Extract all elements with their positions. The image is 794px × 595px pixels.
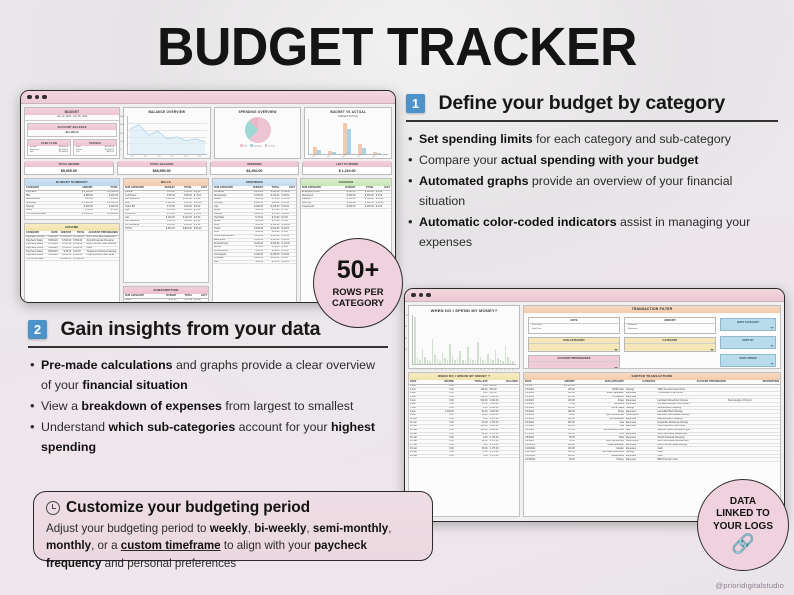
transaction-filter-panel: TRANSACTION FILTER DATE Start Date End D… xyxy=(523,305,781,369)
budget-summary-table[interactable]: BUDGET SUMMARY CATEGORYAMOUNTTOTALPayche… xyxy=(24,178,120,220)
x-axis-labels: 1234567891011121314151617181920212223242… xyxy=(413,369,516,370)
legend-item: Spending xyxy=(250,144,262,148)
data-table: SUB-CATEGORYBUDGETTOTALLEFTNetflix$ 17.0… xyxy=(124,294,208,303)
customize-period-heading: Customize your budgeting period xyxy=(46,499,420,517)
table-row[interactable]: TOTAL$ 840.00$ 804.00$ 36.00 xyxy=(124,227,208,231)
bar-actual xyxy=(332,152,336,154)
page-title: BUDGET TRACKER xyxy=(16,16,778,78)
bar xyxy=(497,358,499,364)
spend-timing-bar-chart: 1 50090060030001234567891011121314151617… xyxy=(412,315,516,365)
table-row[interactable]: Investments$ 250.00$ 250.00$ 0.00 xyxy=(301,205,391,209)
legend-item: Savings xyxy=(265,144,275,148)
data-linked-label: DATALINKED TOYOUR LOGS xyxy=(713,496,773,533)
x-tick-label: Bills xyxy=(327,155,331,159)
y-tick-label: 0 xyxy=(120,149,121,151)
budget-summary-title: BUDGET SUMMARY xyxy=(25,179,119,186)
table-cell: $ 0.00 xyxy=(375,205,391,209)
sort-order-button[interactable]: SORT ORDER xyxy=(720,354,776,367)
table-cell: 0.00 xyxy=(455,454,489,458)
table-cell: TOTAL xyxy=(124,227,157,231)
filter-subcategory-field[interactable]: SUB-CATEGORY xyxy=(528,337,620,352)
x-tick-label: 7/24 xyxy=(184,156,188,158)
left-tables-col: BUDGET SUMMARY CATEGORYAMOUNTTOTALPayche… xyxy=(24,178,120,303)
bar xyxy=(422,349,424,364)
table-cell: $ 4,820.00 xyxy=(72,257,85,261)
bar xyxy=(475,361,477,364)
transactions-top-row: WHEN DO I SPEND MY MONEY? 1 500900600300… xyxy=(408,305,781,369)
metrics-row: TOTAL INCOME$5,000.00TOTAL BALANCE$68,55… xyxy=(24,162,392,175)
bar xyxy=(480,357,482,364)
y-tick-label: 600 xyxy=(404,338,407,340)
table-row[interactable]: 20-Jan0.000.001,175.00 xyxy=(409,454,519,458)
bar xyxy=(510,360,512,364)
maximize-dot-icon[interactable] xyxy=(426,293,431,298)
bullet-point: Understand which sub-categories account … xyxy=(28,417,388,457)
close-dot-icon[interactable] xyxy=(27,95,32,100)
section-2-divider xyxy=(28,346,388,348)
metric-card-1: TOTAL BALANCE$68,550.00 xyxy=(117,162,207,175)
section-1-divider xyxy=(406,120,778,122)
table-cell: Investments xyxy=(301,205,336,209)
filter-category-field[interactable]: CATEGORY xyxy=(624,337,716,352)
bar xyxy=(427,360,429,364)
table-cell xyxy=(46,257,59,261)
metric-value: $5,000.00 xyxy=(61,167,77,176)
pie-legend: BillsSpendingSavings xyxy=(215,144,301,148)
bar xyxy=(447,360,449,364)
x-tick-label: 7/21 xyxy=(170,156,174,158)
table-cell: Misc xyxy=(213,260,246,264)
bar xyxy=(502,361,504,364)
bar xyxy=(449,344,451,364)
budget-top-row: BUDGET July 12, 2024 - July 26, 2024 ACC… xyxy=(24,107,392,159)
spending-overview-pie-chart xyxy=(245,117,271,143)
spend-timing-title: WHEN DO I SPEND MY MONEY? xyxy=(409,306,519,314)
income-title: INCOME xyxy=(25,224,119,231)
bar xyxy=(485,361,487,364)
bar xyxy=(467,347,469,364)
sort-order-label: SORT ORDER xyxy=(739,357,756,360)
bills-table[interactable]: BILLS SUB-CATEGORYBUDGETTOTALLEFTInterne… xyxy=(123,178,209,283)
y-tick-label: 0 xyxy=(404,360,405,362)
table-cell: $ 0.00 xyxy=(193,302,208,303)
bar xyxy=(512,361,514,364)
window-titlebar[interactable] xyxy=(21,91,395,104)
bar xyxy=(457,359,459,364)
table-row[interactable]: Misc$ 80.00$ 62.00$ 18.00 xyxy=(213,260,296,264)
transaction-filter-title: TRANSACTION FILTER xyxy=(524,306,780,313)
table-cell: $ 804.00 xyxy=(176,227,193,231)
table-cell: Expenses xyxy=(625,458,657,462)
y-tick-label: 4000 xyxy=(120,116,124,118)
sort-buttons-col: SORT CATEGORY SORT BY SORT ORDER xyxy=(720,317,776,369)
cash-flow-rows: Income$5,000.00Expenses$3,120.00Net$1,88… xyxy=(28,146,70,154)
table-cell: $ 80.00 xyxy=(246,260,264,264)
balance-overview-chart-panel: BALANCE OVERVIEW 7/127/157/187/217/247/2… xyxy=(123,107,211,159)
spending-title: SPENDING xyxy=(213,179,296,186)
bar xyxy=(465,361,467,364)
y-tick-label: 3000 xyxy=(120,124,124,126)
bar xyxy=(439,361,441,364)
filter-account-provenance-field[interactable]: ACCOUNT PROVENANCE xyxy=(528,355,620,369)
table-cell xyxy=(86,257,119,261)
bar-actual xyxy=(377,153,381,154)
spending-table[interactable]: SPENDING SUB-CATEGORYBUDGETTOTALLEFTGroc… xyxy=(212,178,297,303)
budget-vs-actual-bar-chart: IncomeBillsSpendingSavingsOther xyxy=(308,119,388,155)
bar xyxy=(437,359,439,364)
subscription-title: SUBSCRIPTION xyxy=(124,287,208,294)
filter-category-label: CATEGORY xyxy=(625,338,715,344)
table-cell: 1,175.00 xyxy=(489,454,519,458)
table-cell: 0.00 xyxy=(429,454,455,458)
metric-value: $ 1,110.00 xyxy=(339,167,356,176)
filter-col-1: DATE Start Date End Date SUB-CATEGORY AC… xyxy=(528,317,620,369)
table-row[interactable]: TOTAL INCOME$ 4,820.00$ 4,820.00 xyxy=(25,257,119,261)
table-cell: $ 3,852.00 xyxy=(68,212,93,216)
table-cell: $ 250.00 xyxy=(357,205,375,209)
bar xyxy=(417,358,419,364)
budget-vs-actual-title: BUDGET VS ACTUAL xyxy=(305,108,391,115)
section-1-number: 1 xyxy=(406,94,425,113)
bar xyxy=(452,356,454,364)
balance-line xyxy=(128,116,207,154)
budget-header-panel: BUDGET July 12, 2024 - July 26, 2024 ACC… xyxy=(24,107,120,159)
bar xyxy=(432,339,434,364)
account-dropdown-arrow-icon[interactable] xyxy=(614,367,618,369)
bills-col: BILLS SUB-CATEGORYBUDGETTOTALLEFTInterne… xyxy=(123,178,209,303)
budget-header-title: BUDGET xyxy=(25,108,119,115)
clock-icon xyxy=(46,501,60,515)
metric-value: $68,550.00 xyxy=(153,167,171,176)
table-row[interactable]: Spotify$ 11.00$ 11.00$ 0.00 xyxy=(124,302,208,303)
bar xyxy=(434,355,436,364)
x-tick-label: 7/12 xyxy=(130,156,134,158)
bar xyxy=(462,360,464,364)
spending-overview-title: SPENDING OVERVIEW xyxy=(215,108,301,115)
budget-vs-actual-chart-panel: BUDGET VS ACTUAL BUDGET ACTUAL IncomeBil… xyxy=(304,107,392,159)
window2-titlebar[interactable] xyxy=(405,289,784,302)
bar xyxy=(444,358,446,364)
mini-row: Left$800.00 xyxy=(74,151,116,154)
customize-period-title: Customize your budgeting period xyxy=(66,499,310,517)
filter-fields-area: DATE Start Date End Date SUB-CATEGORY AC… xyxy=(524,313,780,369)
table-cell: $ 36.00 xyxy=(193,227,208,231)
filter-amount-field[interactable]: AMOUNT Minimum Maximum xyxy=(624,317,716,334)
table-cell xyxy=(727,458,780,462)
metric-card-3: LEFT TO SPEND$ 1,110.00 xyxy=(302,162,392,175)
table-row[interactable]: 1/13/202490.00HockeyExpensesBMO Premium … xyxy=(524,458,780,462)
table-cell: $ 4,820.00 xyxy=(59,257,72,261)
table-cell: 90.00 xyxy=(549,458,576,462)
section-1-heading: 1 Define your budget by category xyxy=(406,92,778,115)
bar xyxy=(442,353,444,364)
bar xyxy=(492,360,494,364)
savings-card: SAVINGS Goal$2,000.00Saved$1,200.00Left$… xyxy=(73,139,117,156)
legend-swatch xyxy=(265,144,268,147)
bullet-point: Automatic color-coded indicators assist … xyxy=(406,212,778,252)
y-tick-label: 2000 xyxy=(120,133,124,135)
x-tick-label: Other xyxy=(372,154,377,158)
category-dropdown-arrow-icon[interactable] xyxy=(710,349,714,351)
subcategory-dropdown-arrow-icon[interactable] xyxy=(614,349,618,351)
spending-overview-chart-panel: SPENDING OVERVIEW BillsSpendingSavings xyxy=(214,107,302,159)
rows-badge-label: ROWS PERCATEGORY xyxy=(332,286,384,309)
bar xyxy=(500,360,502,364)
spend-timing-table-title: WHEN DO I SPEND MY MONEY ? xyxy=(409,373,519,380)
bullet-point: Pre-made calculations and graphs provide… xyxy=(28,355,388,395)
table-cell: $ 62.00 xyxy=(264,260,280,264)
table-cell: 1/13/2024 xyxy=(524,458,549,462)
table-cell: $ 11.00 xyxy=(178,302,194,303)
subscription-table[interactable]: SUBSCRIPTION SUB-CATEGORYBUDGETTOTALLEFT… xyxy=(123,286,209,303)
sort-category-button[interactable]: SORT CATEGORY xyxy=(720,318,776,331)
table-row[interactable]: TOTAL EXPENSES$ 3,852.00$ 3,991.00 xyxy=(25,212,119,216)
bullet-point: Set spending limits for each category an… xyxy=(406,129,778,149)
section-2-title: Gain insights from your data xyxy=(60,318,320,340)
filter-date-end[interactable]: End Date xyxy=(529,327,619,330)
bar-actual xyxy=(347,129,351,154)
table-cell: $ 3,991.00 xyxy=(94,212,119,216)
x-tick-label: 7/26 xyxy=(197,156,201,158)
bills-title: BILLS xyxy=(124,179,208,186)
bar xyxy=(472,360,474,364)
income-table[interactable]: INCOME CATEGORYDATEAMOUNTTOTALACCOUNT PR… xyxy=(24,223,120,303)
bullet-point: Compare your actual spending with your b… xyxy=(406,150,778,170)
section-gain-insights: 2 Gain insights from your data Pre-made … xyxy=(28,318,388,458)
watermark: @prioridigitalstudio xyxy=(715,581,784,590)
table-cell: BMO Premium Visa xyxy=(657,458,728,462)
data-table: SUB-CATEGORYBUDGETTOTALLEFTInternet$ 65.… xyxy=(124,186,208,231)
bar xyxy=(414,317,416,364)
data-table: DATEAMOUNTSUB-CATEGORYCATEGORYACCOUNT PR… xyxy=(524,380,780,462)
data-table: CATEGORYDATEAMOUNTTOTALACCOUNT PROVENANC… xyxy=(25,231,119,262)
account-balance-card: ACCOUNT BALANCE $12,450.00 xyxy=(27,123,117,137)
section-2-number: 2 xyxy=(28,320,47,339)
cash-flow-card: CASH FLOW Income$5,000.00Expenses$3,120.… xyxy=(27,139,71,156)
maximize-dot-icon[interactable] xyxy=(42,95,47,100)
sort-by-label: SORT BY xyxy=(742,339,754,342)
bar xyxy=(477,342,479,364)
table-cell: Hockey xyxy=(576,458,625,462)
data-table: SUB-CATEGORYBUDGETTOTALLEFTGroceries$ 45… xyxy=(213,186,296,265)
section-define-budget: 1 Define your budget by category Set spe… xyxy=(406,92,778,253)
mini-cards-row: CASH FLOW Income$5,000.00Expenses$3,120.… xyxy=(27,139,117,156)
data-linked-badge: DATALINKED TOYOUR LOGS 🔗 xyxy=(697,479,789,571)
bar xyxy=(459,351,461,364)
table-cell: Spotify xyxy=(124,302,158,303)
bar xyxy=(424,357,426,364)
filter-date-field[interactable]: DATE Start Date End Date xyxy=(528,317,620,334)
data-table: SUB-CATEGORYBUDGETTOTALLEFTEmergency Fun… xyxy=(301,186,391,209)
filter-amount-max[interactable]: Maximum xyxy=(625,327,715,330)
sort-category-label: SORT CATEGORY xyxy=(737,321,759,324)
bar xyxy=(419,360,421,364)
metric-card-0: TOTAL INCOME$5,000.00 xyxy=(24,162,114,175)
table-cell: $ 11.00 xyxy=(158,302,177,303)
filter-subcategory-label: SUB-CATEGORY xyxy=(529,338,619,344)
table-cell: TOTAL EXPENSES xyxy=(25,212,68,216)
rows-per-category-badge: 50+ ROWS PERCATEGORY xyxy=(313,238,403,328)
table-cell: $ 18.00 xyxy=(280,260,296,264)
y-tick-label: 1 500 xyxy=(404,315,409,317)
y-tick-label: 300 xyxy=(404,349,407,351)
balance-overview-title: BALANCE OVERVIEW xyxy=(124,108,210,115)
x-tick-label: 7/15 xyxy=(144,156,148,158)
y-tick-label: 900 xyxy=(404,326,407,328)
bar xyxy=(429,361,431,364)
x-tick-label: 7/18 xyxy=(157,156,161,158)
legend-swatch xyxy=(240,144,243,147)
metric-card-2: SPENDING$4,260.00 xyxy=(210,162,300,175)
section-1-title: Define your budget by category xyxy=(438,92,725,114)
rows-badge-number: 50+ xyxy=(337,258,379,283)
account-balance-value: $12,450.00 xyxy=(28,130,116,136)
bar-actual xyxy=(317,150,321,154)
table-cell: $ 840.00 xyxy=(157,227,176,231)
budget-vs-actual-subtitle: BUDGET ACTUAL xyxy=(305,115,391,118)
metric-value: $4,260.00 xyxy=(246,167,262,176)
section-2-points: Pre-made calculations and graphs provide… xyxy=(28,355,388,457)
spend-timing-chart-panel: WHEN DO I SPEND MY MONEY? 1 500900600300… xyxy=(408,305,520,369)
minimize-dot-icon[interactable] xyxy=(419,293,424,298)
bar xyxy=(470,358,472,364)
table-cell: 20-Jan xyxy=(409,454,429,458)
sort-by-button[interactable]: SORT BY xyxy=(720,336,776,349)
data-table: DATEINCOMETOTAL EXPBALANCE1-Jan0.000.006… xyxy=(409,380,519,459)
legend-swatch xyxy=(250,144,253,147)
y-tick-label: 1000 xyxy=(120,141,124,143)
bar xyxy=(487,354,489,364)
x-tick-label: Income xyxy=(312,153,318,158)
filter-account-label: ACCOUNT PROVENANCE xyxy=(529,356,619,362)
data-table: CATEGORYAMOUNTTOTALPaycheck$ 3,500.00$ 3… xyxy=(25,186,119,217)
bar xyxy=(495,350,497,364)
bullet-point: Automated graphs provide an overview of … xyxy=(406,171,778,211)
savings-title: SAVINGS xyxy=(301,179,391,186)
balance-overview-line-chart: 7/127/157/187/217/247/264000300020001000… xyxy=(127,116,207,155)
chain-link-icon: 🔗 xyxy=(731,535,755,554)
filter-col-2: AMOUNT Minimum Maximum CATEGORY xyxy=(624,317,716,369)
mini-row: Net$1,880.00 xyxy=(28,151,70,154)
bar xyxy=(505,346,507,364)
bar xyxy=(454,360,456,364)
table-cell: TOTAL INCOME xyxy=(25,257,46,261)
section-1-points: Set spending limits for each category an… xyxy=(406,129,778,253)
bullet-point: View a breakdown of expenses from larges… xyxy=(28,396,388,416)
customize-period-box: Customize your budgeting period Adjust y… xyxy=(33,491,433,561)
table-cell: $ 250.00 xyxy=(336,205,356,209)
legend-item: Bills xyxy=(240,144,247,148)
bar xyxy=(507,357,509,364)
sorted-transactions-title: SORTED TRANSACTIONS xyxy=(524,373,780,380)
savings-rows: Goal$2,000.00Saved$1,200.00Left$800.00 xyxy=(74,146,116,154)
close-dot-icon[interactable] xyxy=(411,293,416,298)
customize-period-body: Adjust your budgeting period to weekly, … xyxy=(46,520,420,572)
bar xyxy=(482,360,484,364)
minimize-dot-icon[interactable] xyxy=(35,95,40,100)
bar xyxy=(490,359,492,364)
